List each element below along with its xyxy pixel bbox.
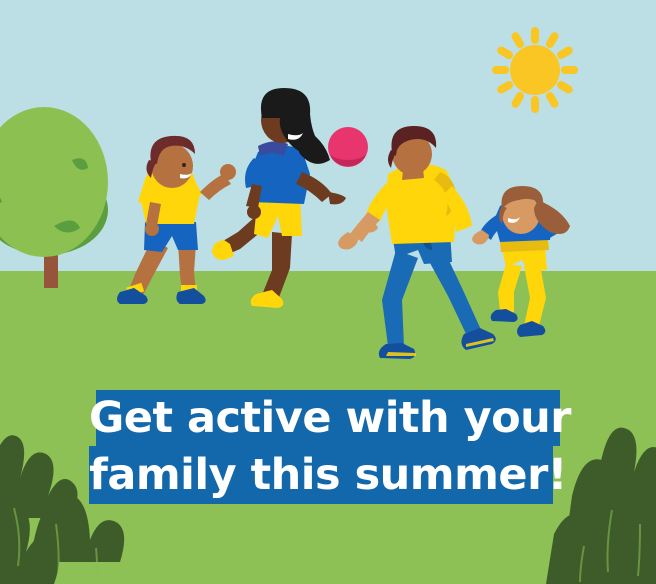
ball xyxy=(328,127,368,167)
poster-root: Get active with your family this summer! xyxy=(0,0,656,584)
figure-girl xyxy=(472,186,570,337)
figure-woman xyxy=(212,88,346,308)
sun-icon xyxy=(492,27,578,113)
figure-boy xyxy=(117,136,236,304)
scene-illustration xyxy=(0,0,656,584)
bush-right xyxy=(546,428,656,584)
tree xyxy=(0,107,108,288)
bush-left xyxy=(0,435,124,584)
